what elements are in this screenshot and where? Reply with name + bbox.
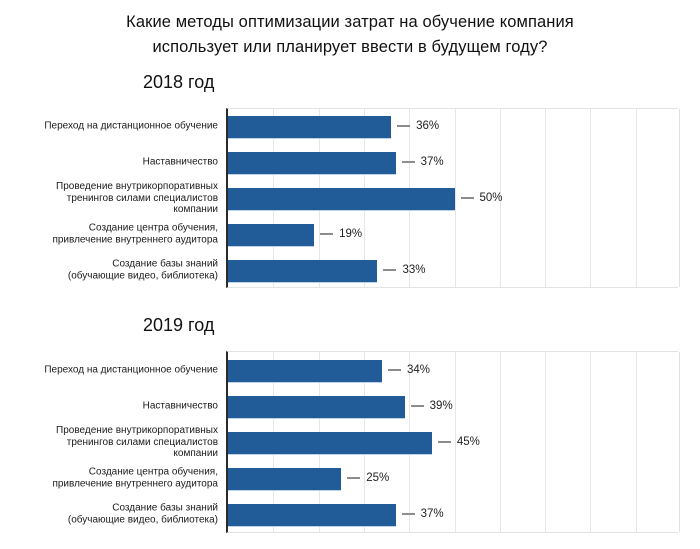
gridline [455, 109, 456, 287]
bar [228, 224, 314, 246]
gridline [590, 109, 591, 287]
bar-value-label: 19% [320, 228, 362, 240]
bar-value-label: 50% [461, 192, 503, 204]
category-label: Создание центра обучения, привлечение вн… [0, 223, 222, 246]
bar-value-label: 39% [411, 400, 453, 412]
bar [228, 396, 405, 418]
category-label: Наставничество [0, 400, 222, 412]
category-label: Переход на дистанционное обучение [0, 364, 222, 376]
category-label: Проведение внутрикорпоративных тренингов… [0, 425, 222, 460]
bar-value-label: 25% [347, 472, 389, 484]
gridline [636, 109, 637, 287]
bar-value-label: 34% [388, 364, 430, 376]
bar [228, 504, 396, 526]
bar [228, 152, 396, 174]
chart-2018-plot-area [226, 108, 678, 288]
bar [228, 116, 391, 138]
bar [228, 260, 377, 282]
leader-dash-icon [388, 369, 401, 371]
bar-value-label: 37% [402, 156, 444, 168]
bar-value-text: 37% [421, 156, 444, 168]
bar [228, 188, 455, 210]
gridline [636, 352, 637, 532]
gridline [679, 352, 680, 532]
leader-dash-icon [438, 441, 451, 443]
leader-dash-icon [402, 161, 415, 163]
gridline [590, 352, 591, 532]
bar-value-text: 50% [480, 192, 503, 204]
gridline [679, 109, 680, 287]
gridline [500, 352, 501, 532]
category-label: Создание базы знаний (обучающие видео, б… [0, 259, 222, 282]
page-title-line-1: Какие методы оптимизации затрат на обуче… [0, 10, 700, 35]
bar-value-text: 34% [407, 364, 430, 376]
bar-value-label: 37% [402, 508, 444, 520]
bar-value-text: 25% [366, 472, 389, 484]
bar-value-text: 45% [457, 436, 480, 448]
leader-dash-icon [320, 233, 333, 235]
leader-dash-icon [397, 125, 410, 127]
bar [228, 360, 382, 382]
bar-value-text: 39% [430, 400, 453, 412]
category-label: Проведение внутрикорпоративных тренингов… [0, 181, 222, 216]
category-label: Создание базы знаний (обучающие видео, б… [0, 503, 222, 526]
gridline [545, 352, 546, 532]
bar [228, 468, 341, 490]
leader-dash-icon [402, 513, 415, 515]
chart-2018-plot-inner [228, 109, 678, 287]
bar-value-text: 33% [402, 264, 425, 276]
category-label: Создание центра обучения, привлечение вн… [0, 467, 222, 490]
category-label: Наставничество [0, 156, 222, 168]
bar-value-label: 45% [438, 436, 480, 448]
leader-dash-icon [383, 269, 396, 271]
leader-dash-icon [347, 477, 360, 479]
chart-2018-heading: 2018 год [143, 70, 214, 94]
page-title-line-2: использует или планирует ввести в будуще… [0, 35, 700, 60]
leader-dash-icon [411, 405, 424, 407]
bar-value-text: 37% [421, 508, 444, 520]
category-label: Переход на дистанционное обучение [0, 120, 222, 132]
page-title: Какие методы оптимизации затрат на обуче… [0, 10, 700, 60]
bar-value-text: 36% [416, 120, 439, 132]
bar-value-label: 36% [397, 120, 439, 132]
leader-dash-icon [461, 197, 474, 199]
bar-value-label: 33% [383, 264, 425, 276]
gridline [545, 109, 546, 287]
chart-2019-heading: 2019 год [143, 313, 214, 337]
bar [228, 432, 432, 454]
bar-value-text: 19% [339, 228, 362, 240]
